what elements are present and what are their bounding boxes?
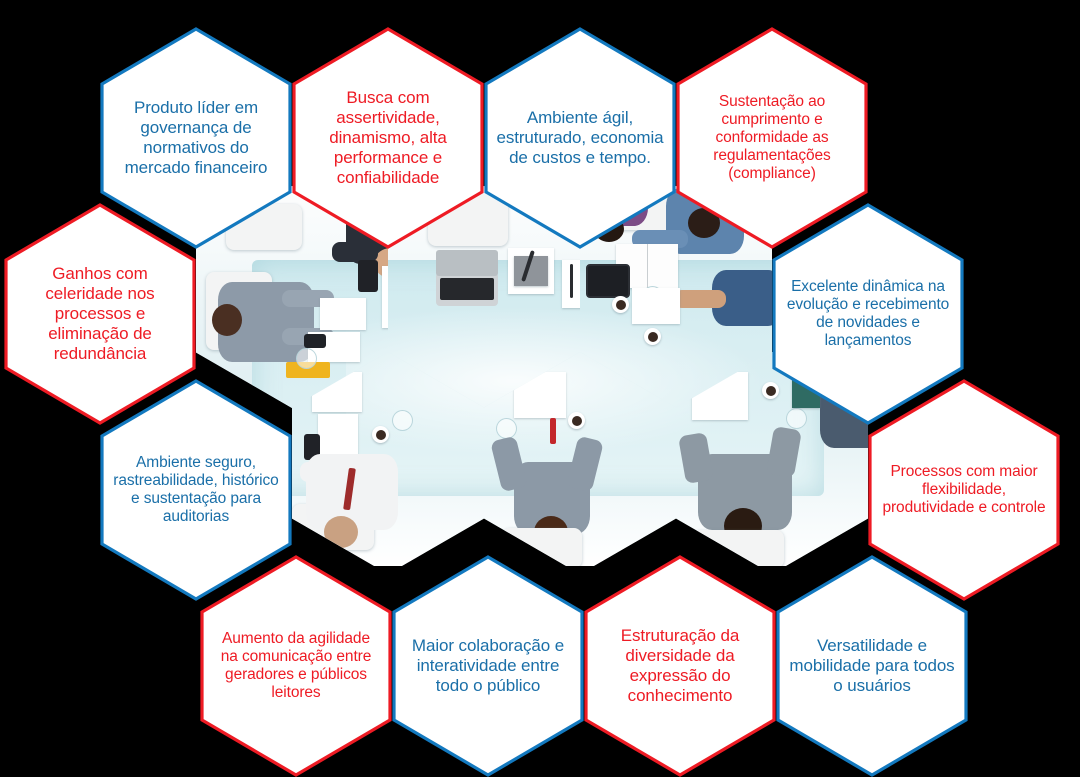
hex-label: Versatilidade e mobilidade para todos o … [788, 636, 956, 696]
hex-label: Processos com maior flexibilidade, produ… [880, 463, 1048, 517]
hex-label: Estruturação da diversidade da expressão… [596, 626, 764, 706]
hex-card-versatilidade-mobilidade[interactable]: Versatilidade e mobilidade para todos o … [776, 555, 968, 777]
hex-card-maior-colaboracao[interactable]: Maior colaboração e interatividade entre… [392, 555, 584, 777]
hex-label: Sustentação ao cumprimento e conformidad… [688, 93, 856, 184]
infographic-canvas: Produto líder em governança de normativo… [0, 0, 1080, 750]
hex-card-estruturacao-diversidade[interactable]: Estruturação da diversidade da expressão… [584, 555, 776, 777]
hex-label: Ambiente ágil, estruturado, economia de … [496, 108, 664, 168]
hex-label: Ambiente seguro, rastreabilidade, histór… [112, 454, 280, 527]
hex-label: Excelente dinâmica na evolução e recebim… [784, 278, 952, 351]
hex-label: Maior colaboração e interatividade entre… [404, 636, 572, 696]
hex-label: Aumento da agilidade na comunicação entr… [212, 630, 380, 703]
hex-label: Ganhos com celeridade nos processos e el… [16, 264, 184, 363]
hex-label: Produto líder em governança de normativo… [112, 98, 280, 178]
hex-card-aumento-agilidade[interactable]: Aumento da agilidade na comunicação entr… [200, 555, 392, 777]
hex-card-ambiente-agil[interactable]: Ambiente ágil, estruturado, economia de … [484, 27, 676, 249]
hex-label: Busca com assertividade, dinamismo, alta… [304, 88, 472, 187]
hex-card-busca-assertividade[interactable]: Busca com assertividade, dinamismo, alta… [292, 27, 484, 249]
